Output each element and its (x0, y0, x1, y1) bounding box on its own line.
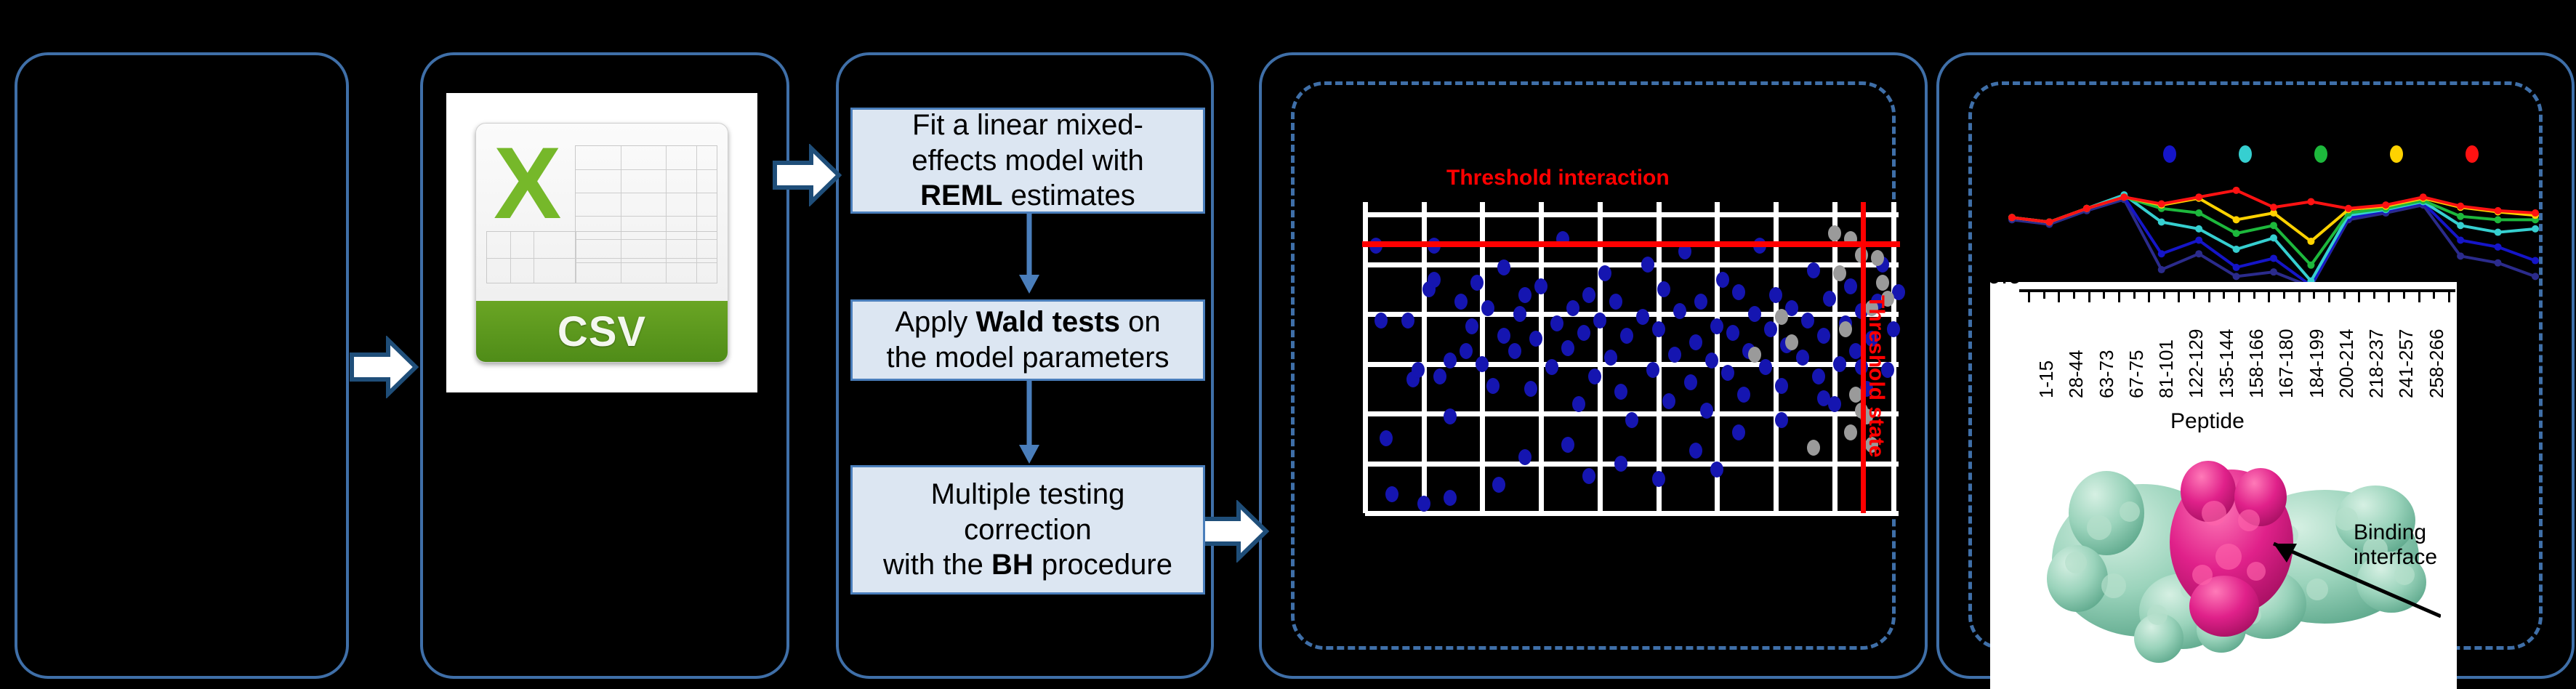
scatter-point (1700, 403, 1713, 419)
scatter-point (1566, 300, 1579, 316)
axis-tick (2223, 291, 2225, 299)
scatter-point (1839, 321, 1852, 337)
scatter-point (1876, 275, 1889, 291)
scatter-point (1710, 462, 1723, 478)
axis-tick (2238, 291, 2240, 302)
binding-interface-label: Binding interface (2354, 520, 2437, 569)
scatter-point (1721, 365, 1734, 381)
scatter-point (1620, 328, 1633, 344)
line-point (2495, 243, 2502, 251)
scatter-point (1828, 225, 1841, 241)
scatter-point (1385, 486, 1398, 502)
stage-panel-1 (15, 52, 349, 679)
axis-tick (2133, 291, 2136, 299)
line-point (2307, 198, 2314, 205)
scatter-point (1796, 350, 1809, 366)
peptide-tick-label: 135-144 (2215, 329, 2238, 398)
scatter-point (1550, 315, 1563, 331)
peptide-tick-label: 241-257 (2395, 329, 2418, 398)
line-chart-y-zero-label: 0.0 (1990, 282, 2021, 290)
scatter-point (1801, 313, 1814, 329)
scatter-point (1545, 359, 1558, 375)
line-point (2532, 273, 2539, 280)
line-point (2233, 230, 2240, 237)
grid-line-vertical (1598, 202, 1603, 513)
arrow-stage2-to-stage3 (772, 144, 842, 206)
scatter-point (1652, 321, 1665, 337)
scatter-point (1444, 490, 1457, 506)
scatter-point (1641, 257, 1654, 273)
line-point (2158, 266, 2165, 273)
line-point (2270, 234, 2277, 241)
grid-line-horizontal (1365, 312, 1899, 317)
peptide-axis-title: Peptide (2170, 409, 2245, 434)
scatter-point (1476, 356, 1489, 372)
line-point (2495, 229, 2502, 236)
scatter-point (1460, 343, 1473, 359)
grid-line-vertical (1657, 202, 1662, 513)
scatter-point (1572, 396, 1585, 412)
line-point (2233, 216, 2240, 223)
scatter-point (1374, 313, 1388, 329)
line-point (2457, 213, 2464, 220)
grid-line-horizontal (1365, 511, 1899, 516)
axis-tick (2103, 291, 2105, 299)
scatter-point (1775, 378, 1788, 394)
scatter-point (1577, 325, 1590, 341)
line-point (2270, 268, 2277, 275)
arrow-stage3-to-stage4 (1199, 500, 1269, 563)
scatter-point (1775, 309, 1788, 325)
axis-tick (2298, 291, 2301, 302)
scatter-point (1497, 259, 1510, 275)
excel-x-glyph: X (494, 132, 561, 234)
line-point (2270, 254, 2277, 262)
grid-line-vertical (1774, 202, 1779, 513)
csv-label-text: CSV (558, 307, 646, 356)
scatter-point (1614, 384, 1627, 400)
scatter-point (1817, 328, 1830, 344)
process-box-fit-model[interactable]: Fit a linear mixed- effects model with R… (850, 108, 1205, 214)
scatter-plot: Threshold interaction Threshold state (1352, 153, 1904, 531)
line-point (2045, 219, 2053, 226)
axis-tick (2058, 291, 2060, 302)
arrow-stage1-to-stage2 (349, 336, 419, 398)
scatter-point (1508, 343, 1521, 359)
line-point (2532, 225, 2539, 233)
axis-tick (2358, 291, 2360, 302)
grid-line-horizontal (1365, 212, 1899, 217)
peptide-tick-label: 200-214 (2335, 329, 2358, 398)
axis-tick (2403, 291, 2405, 299)
line-point (2532, 209, 2539, 217)
line-point (2307, 262, 2314, 269)
scatter-point (1652, 471, 1665, 487)
line-point (2008, 214, 2016, 221)
axis-tick (2193, 291, 2195, 299)
axis-tick (2388, 291, 2390, 302)
scatter-point (1598, 265, 1611, 281)
line-point (2382, 201, 2389, 209)
threshold-state-label: Threshold state (1864, 295, 1888, 457)
peptide-tick-label: 81-101 (2155, 339, 2178, 398)
process-box-wald-tests-text: Apply Wald tests on the model parameters (886, 305, 1169, 376)
scatter-point (1710, 318, 1723, 334)
csv-label-band: CSV (476, 301, 728, 362)
scatter-point (1428, 272, 1441, 288)
peptide-tick-label: 218-237 (2365, 329, 2388, 398)
scatter-point (1561, 437, 1574, 453)
scatter-point (1518, 287, 1531, 303)
scatter-point (1833, 265, 1846, 281)
threshold-state-line (1861, 202, 1866, 513)
scatter-point (1887, 321, 1900, 337)
line-point (2420, 193, 2427, 201)
line-point (2195, 250, 2202, 257)
line-chart-svg (1997, 145, 2550, 291)
line-point (2233, 246, 2240, 253)
process-box-bh-correction[interactable]: Multiple testing correction with the BH … (850, 465, 1205, 595)
peptide-tick-label: 122-129 (2185, 329, 2207, 398)
axis-tick (2253, 291, 2255, 299)
scatter-point (1444, 408, 1457, 424)
line-point (2195, 225, 2202, 233)
scatter-point (1486, 378, 1500, 394)
scatter-point (1823, 291, 1836, 307)
axis-tick (2268, 291, 2270, 302)
axis-tick (2178, 291, 2180, 302)
scatter-point (1534, 278, 1547, 294)
scatter-point (1657, 281, 1670, 297)
line-point (2195, 209, 2202, 217)
axis-tick (2208, 291, 2210, 302)
axis-tick (2148, 291, 2150, 302)
scatter-point (1401, 313, 1414, 329)
line-point (2457, 222, 2464, 229)
line-point (2532, 257, 2539, 265)
line-point (2345, 205, 2352, 212)
line-point (2158, 219, 2165, 226)
peptide-tick-label: 184-199 (2306, 329, 2328, 398)
scatter-point (1625, 412, 1638, 428)
line-point (2270, 204, 2277, 211)
grid-line-vertical (1422, 202, 1427, 513)
scatter-point (1636, 309, 1649, 325)
peptide-tick-label: 67-75 (2125, 350, 2148, 399)
scatter-point (1417, 496, 1430, 512)
line-point (2195, 236, 2202, 243)
scatter-point (1433, 368, 1446, 384)
peptide-tick-label: 28-44 (2065, 350, 2088, 399)
process-box-wald-tests[interactable]: Apply Wald tests on the model parameters (850, 299, 1205, 381)
scatter-point (1844, 424, 1857, 440)
scatter-point (1737, 387, 1750, 403)
scatter-point (1732, 284, 1745, 300)
axis-tick (2073, 291, 2075, 299)
line-point (2195, 193, 2202, 201)
axis-tick (2313, 291, 2315, 299)
csv-file-card: X CSV (446, 93, 757, 392)
line-point (2307, 238, 2314, 245)
peptide-tick-label: 1-15 (2035, 360, 2058, 398)
axis-tick (2283, 291, 2285, 299)
scatter-point (1529, 331, 1542, 347)
scatter-point (1871, 250, 1884, 266)
results-inset-panel: 1-1528-4463-7367-7581-101122-129135-1441… (1990, 282, 2457, 689)
line-point (2495, 207, 2502, 214)
axis-tick (2343, 291, 2346, 299)
scatter-point (1748, 306, 1761, 322)
scatter-point (1524, 381, 1537, 397)
scatter-point (1380, 430, 1393, 446)
scatter-point (1844, 278, 1857, 294)
scatter-point (1807, 262, 1820, 278)
axis-tick (2328, 291, 2330, 302)
scatter-point (1833, 356, 1846, 372)
axis-tick (2163, 291, 2165, 299)
csv-file-icon: X CSV (475, 123, 728, 363)
peptide-tick-label: 258-266 (2426, 329, 2448, 398)
peptide-line-chart (1997, 145, 2550, 291)
scatter-point (1668, 347, 1681, 363)
axis-tick (2448, 291, 2450, 302)
scatter-point (1561, 340, 1574, 356)
scatter-point (1662, 393, 1675, 409)
scatter-point (1748, 347, 1761, 363)
line-point (2233, 187, 2240, 194)
scatter-point (1481, 300, 1494, 316)
scatter-point (1492, 477, 1505, 493)
scatter-point (1817, 390, 1830, 406)
peptide-tick-label: 277-284 (2455, 329, 2457, 398)
scatter-point (1609, 294, 1622, 310)
scatter-point (1716, 272, 1729, 288)
scatter-point (1684, 374, 1697, 390)
line-point (2495, 259, 2502, 267)
scatter-point (1689, 443, 1702, 459)
axis-tick (2088, 291, 2090, 302)
peptide-tick-label: 158-166 (2245, 329, 2268, 398)
scatter-point (1604, 350, 1617, 366)
scatter-point (1582, 468, 1595, 484)
line-point (2457, 252, 2464, 259)
threshold-interaction-label: Threshold interaction (1446, 166, 1670, 190)
line-point (2233, 264, 2240, 271)
scatter-point (1759, 359, 1772, 375)
connector-wald-to-bh (1015, 381, 1044, 469)
axis-tick (2373, 291, 2375, 299)
scatter-point (1785, 334, 1798, 350)
line-point (2457, 236, 2464, 243)
grid-line-vertical (1891, 202, 1896, 513)
axis-tick (2418, 291, 2420, 302)
scatter-point (1726, 325, 1739, 341)
scatter-point (1513, 306, 1526, 322)
threshold-interaction-line (1362, 241, 1900, 247)
axis-tick (2028, 291, 2030, 302)
line-point (2457, 203, 2464, 210)
scatter-point (1454, 294, 1468, 310)
axis-tick (2433, 291, 2435, 299)
grid-line-vertical (1539, 202, 1544, 513)
line-point (2120, 193, 2128, 201)
line-point (2270, 222, 2277, 229)
peptide-tick-label: 167-180 (2275, 329, 2298, 398)
scatter-point (1812, 368, 1825, 384)
scatter-point (1807, 440, 1820, 456)
scatter-point (1582, 287, 1595, 303)
line-point (2158, 201, 2165, 208)
line-point (2158, 250, 2165, 257)
scatter-point (1614, 456, 1627, 472)
scatter-point (1775, 412, 1788, 428)
peptide-tick-label: 63-73 (2096, 350, 2118, 399)
connector-fit-to-wald (1015, 214, 1044, 299)
line-point (2495, 216, 2502, 223)
scatter-point (1769, 287, 1782, 303)
scatter-point (1732, 424, 1745, 440)
scatter-point (1497, 328, 1510, 344)
process-box-bh-correction-text: Multiple testing correction with the BH … (883, 477, 1172, 583)
scatter-point (1593, 313, 1606, 329)
line-point (2233, 273, 2240, 280)
scatter-point (1673, 303, 1686, 319)
line-point (2083, 205, 2090, 212)
grid-line-vertical (1363, 202, 1368, 513)
scatter-point (1465, 318, 1478, 334)
grid-line-horizontal (1365, 462, 1899, 467)
scatter-point (1588, 368, 1601, 384)
scatter-point (1694, 294, 1707, 310)
axis-tick (2118, 291, 2120, 302)
scatter-point (1689, 334, 1702, 350)
process-box-fit-model-text: Fit a linear mixed- effects model with R… (911, 108, 1143, 214)
axis-tick (2043, 291, 2045, 299)
